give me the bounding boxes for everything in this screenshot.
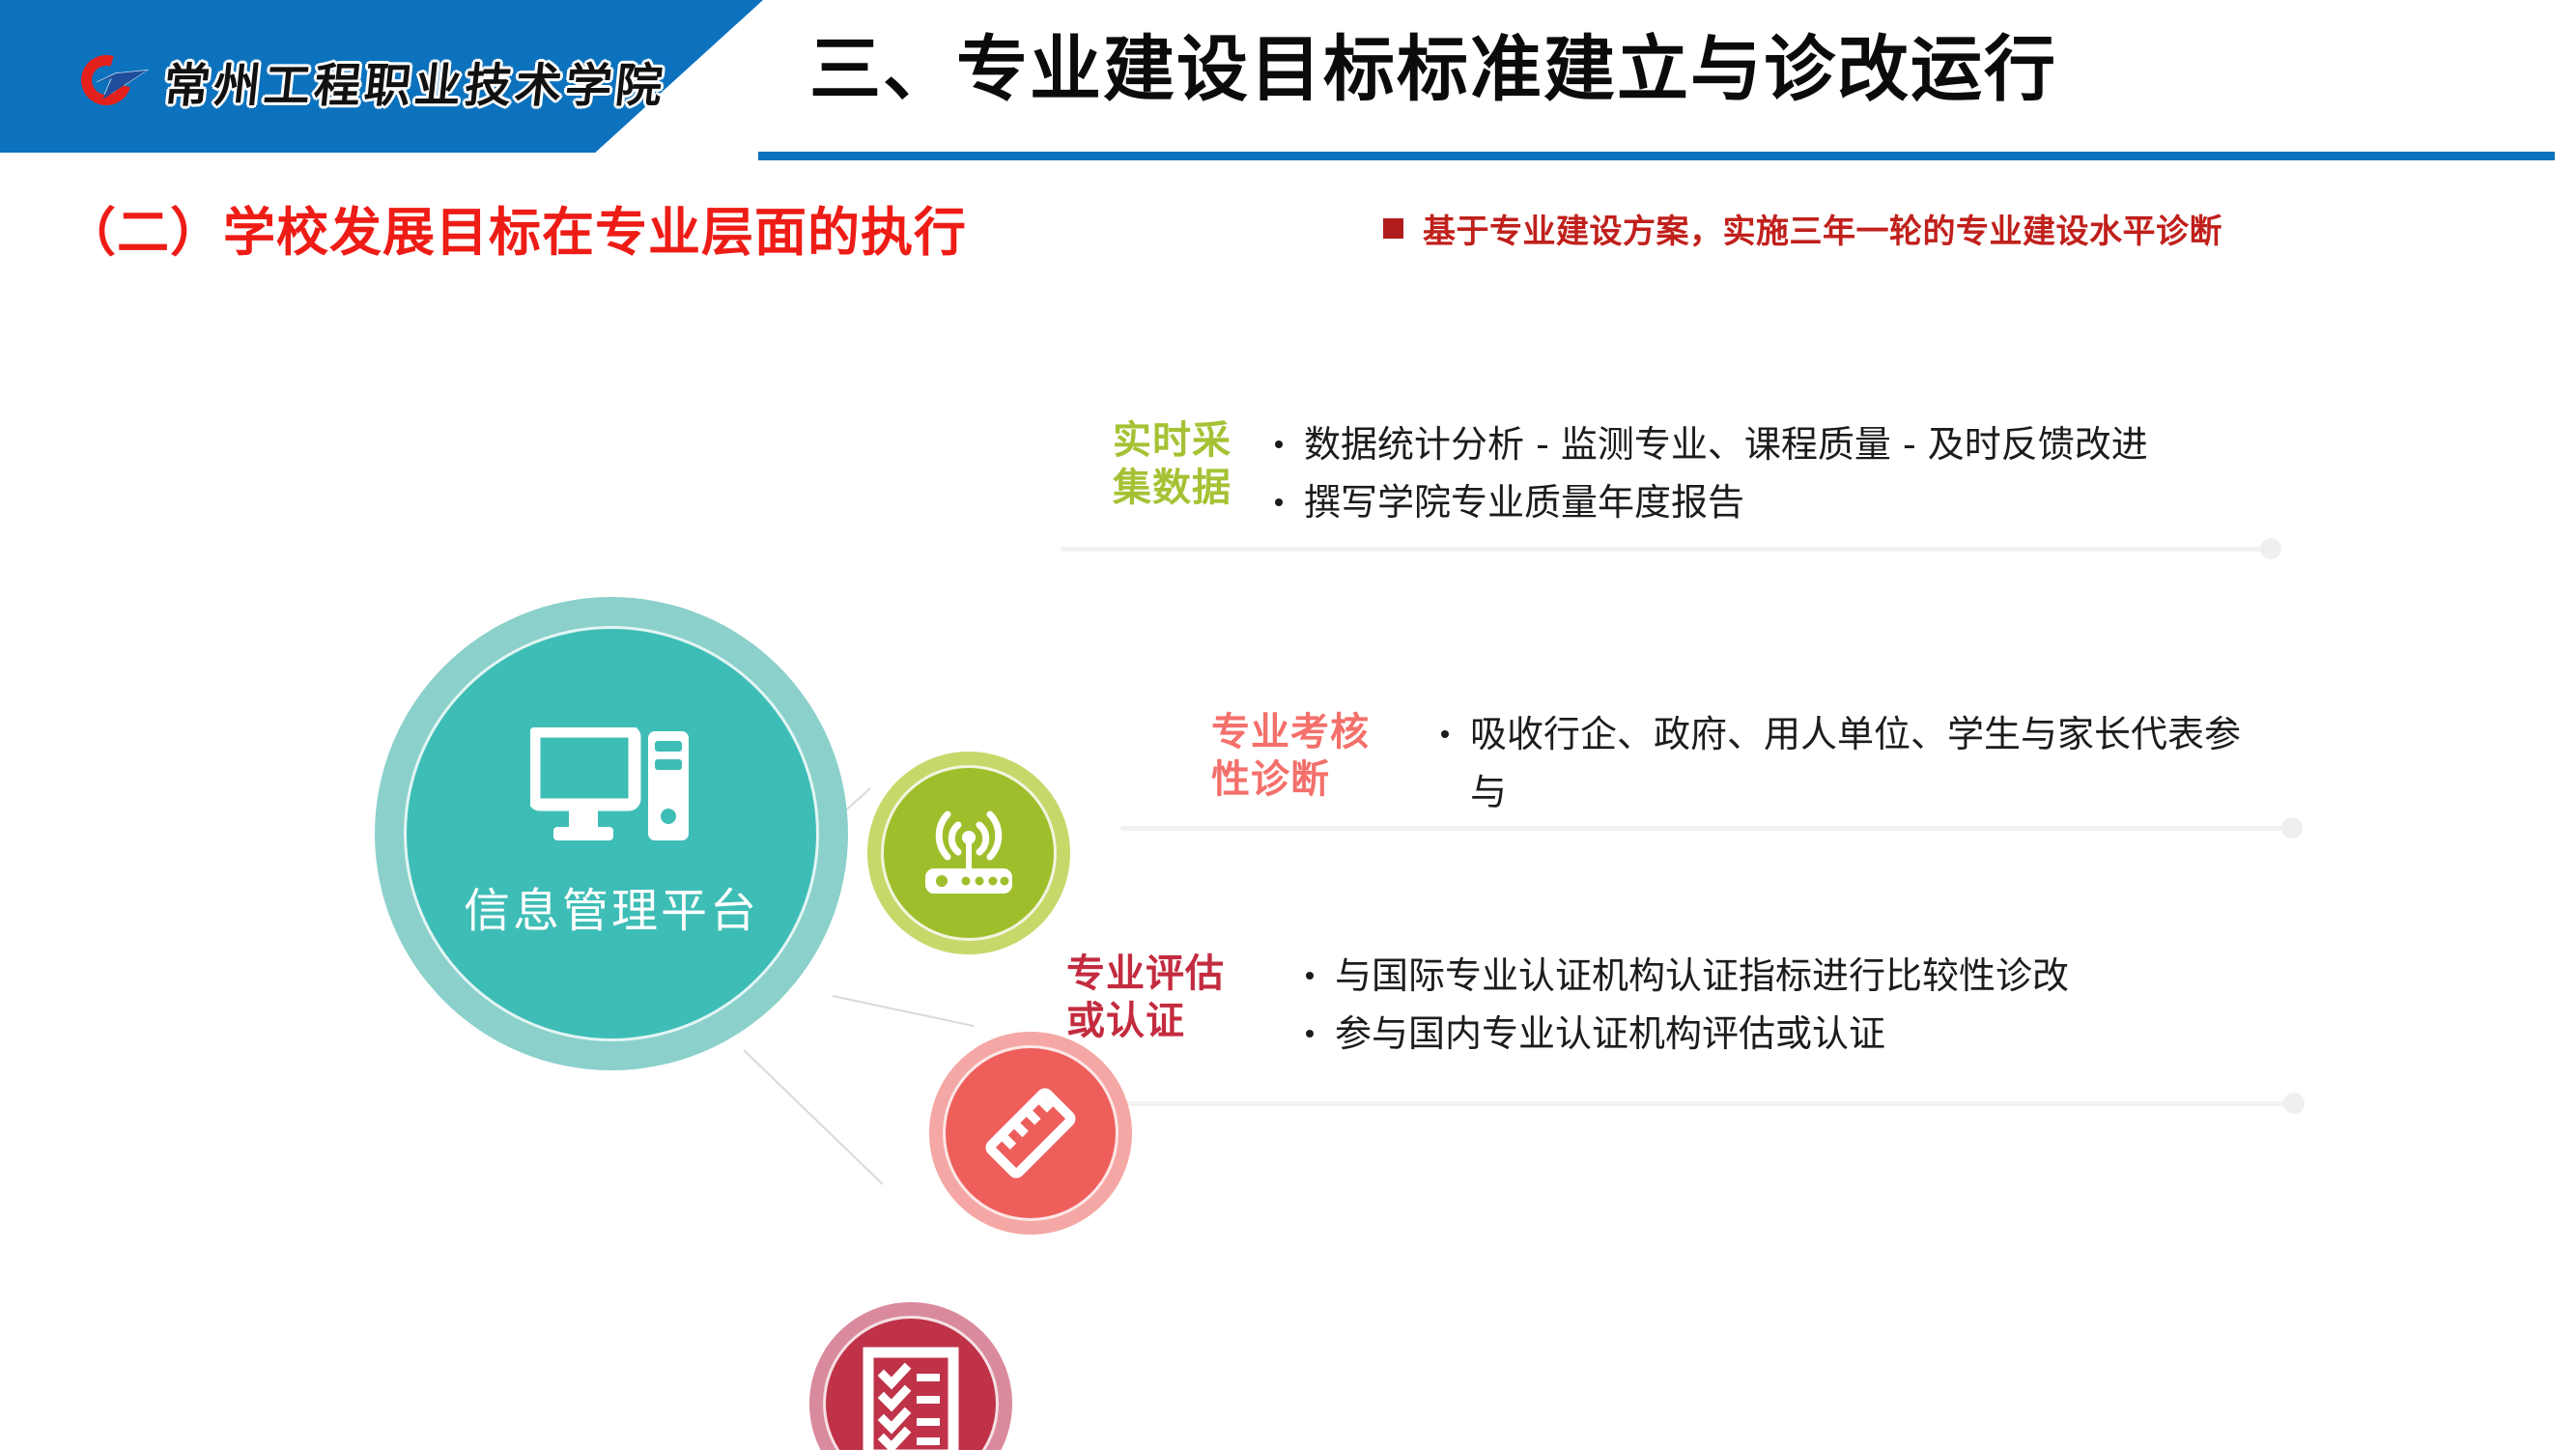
branch-kicker-realtime-data: 实时采 集数据	[1113, 417, 1231, 512]
connector-hub-to-crimson	[743, 1049, 883, 1184]
list-item: 参与国内专业认证机构评估或认证	[1306, 1005, 2281, 1063]
list-item: 吸收行企、政府、用人单位、学生与家长代表参与	[1441, 705, 2272, 821]
branch-kicker-evaluation-certification: 专业评估 或认证	[1066, 951, 1225, 1045]
ruler-icon	[974, 1076, 1088, 1190]
rail-end-dot-crimson	[2283, 1093, 2305, 1114]
checklist-icon	[863, 1347, 959, 1450]
platform-diagram: 信息管理平台	[0, 319, 2576, 1285]
list-item: 撰写学院专业质量年度报告	[1275, 473, 2270, 531]
branch-node-realtime-data[interactable]	[867, 752, 1070, 954]
header-divider	[758, 152, 2555, 160]
rail-end-dot-coral	[2281, 817, 2303, 839]
bullet-dot-icon	[1306, 1030, 1314, 1038]
square-bullet-icon	[1383, 218, 1403, 239]
section-note: 基于专业建设方案，实施三年一轮的专业建设水平诊断	[1383, 205, 2222, 252]
rail-green	[1061, 547, 2273, 552]
rail-crimson	[1003, 1101, 2297, 1106]
slide-canvas: 常州工程职业技术学院 三、专业建设目标标准建立与诊改运行 （二）学校发展目标在专…	[0, 0, 2576, 1450]
branch-bullets-realtime-data: 数据统计分析 - 监测专业、课程质量 - 及时反馈改进 撰写学院专业质量年度报告	[1275, 415, 2270, 531]
page-title: 三、专业建设目标标准建立与诊改运行	[809, 25, 2548, 115]
institution-name: 常州工程职业技术学院	[160, 47, 669, 115]
hub-node-label: 信息管理平台	[464, 872, 759, 940]
rail-coral	[1120, 826, 2294, 831]
wifi-router-icon	[916, 805, 1022, 901]
list-item: 与国际专业认证机构认证指标进行比较性诊改	[1306, 947, 2281, 1005]
hub-node-information-platform[interactable]: 信息管理平台	[375, 597, 848, 1070]
branch-node-inner-green	[881, 765, 1057, 941]
bullet-dot-icon	[1306, 972, 1314, 980]
institution-logo: 常州工程职业技术学院	[75, 46, 666, 116]
hub-node-inner: 信息管理平台	[404, 626, 819, 1041]
section-subtitle: （二）学校发展目标在专业层面的执行	[64, 189, 967, 266]
desktop-computer-icon	[530, 727, 693, 845]
branch-node-evaluation-certification[interactable]	[809, 1302, 1012, 1450]
branch-node-assessment-diagnosis[interactable]	[929, 1032, 1132, 1235]
branch-node-inner-crimson	[823, 1316, 999, 1450]
bullet-dot-icon	[1275, 498, 1283, 506]
branch-bullets-evaluation-certification: 与国际专业认证机构认证指标进行比较性诊改 参与国内专业认证机构评估或认证	[1306, 947, 2281, 1063]
branch-node-inner-coral	[943, 1045, 1118, 1221]
connector-hub-to-coral	[833, 995, 975, 1027]
rail-end-dot-green	[2260, 538, 2281, 559]
section-note-text: 基于专业建设方案，实施三年一轮的专业建设水平诊断	[1423, 205, 2222, 252]
university-emblem-icon	[75, 49, 151, 113]
list-item: 数据统计分析 - 监测专业、课程质量 - 及时反馈改进	[1275, 415, 2270, 473]
branch-bullets-assessment-diagnosis: 吸收行企、政府、用人单位、学生与家长代表参与	[1441, 705, 2272, 821]
bullet-dot-icon	[1441, 730, 1449, 738]
branch-kicker-assessment-diagnosis: 专业考核 性诊断	[1211, 709, 1370, 804]
bullet-dot-icon	[1275, 441, 1283, 448]
